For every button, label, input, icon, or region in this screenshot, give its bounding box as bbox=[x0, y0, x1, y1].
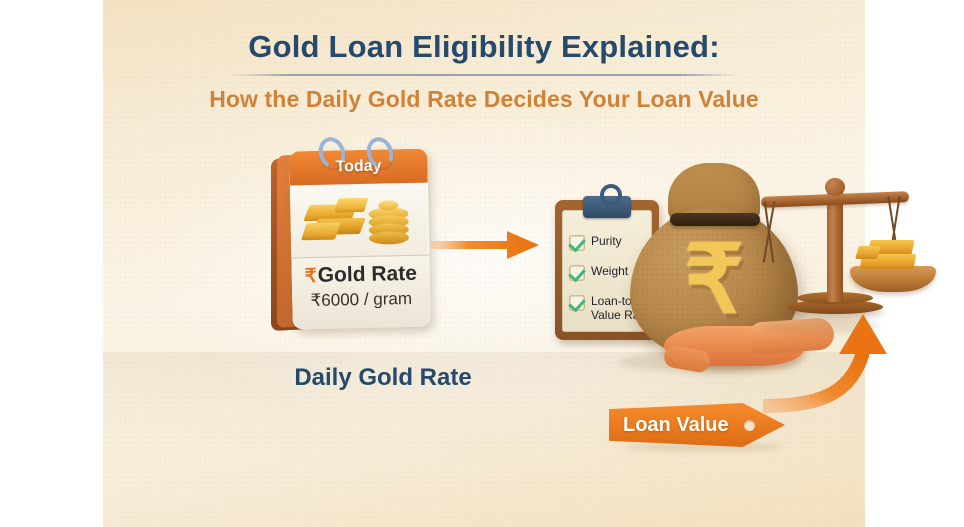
checkbox-checked-icon[interactable] bbox=[569, 295, 585, 311]
gold-bars-icon bbox=[290, 183, 429, 258]
checklist-item-label: Purity bbox=[591, 234, 622, 248]
gold-ingot bbox=[855, 246, 881, 259]
calendar-rate-block: ₹Gold Rate ₹6000 / gram bbox=[291, 255, 430, 330]
calendar-ring-right bbox=[367, 137, 385, 163]
checklist-item-purity[interactable]: Purity bbox=[569, 234, 622, 251]
daily-gold-rate-caption: Daily Gold Rate bbox=[253, 364, 513, 392]
title-divider bbox=[229, 74, 739, 76]
gold-rate-value: ₹6000 bbox=[310, 290, 359, 310]
scale-knob bbox=[825, 178, 845, 196]
page-title: Gold Loan Eligibility Explained: bbox=[103, 30, 865, 65]
calendar-banner: Today bbox=[289, 149, 428, 186]
rupee-icon: ₹ bbox=[304, 266, 317, 287]
checkbox-checked-icon[interactable] bbox=[569, 265, 585, 281]
gold-rate-unit: / gram bbox=[364, 289, 413, 309]
gold-rate-value-line: ₹6000 / gram bbox=[292, 289, 430, 312]
straight-right-arrow-icon bbox=[431, 228, 541, 262]
checklist-item-label: Weight bbox=[591, 264, 628, 278]
loan-value-tag-hole bbox=[744, 420, 755, 431]
loan-value-tag-label: Loan Value bbox=[623, 403, 729, 447]
infographic-canvas: Gold Loan Eligibility Explained: How the… bbox=[0, 0, 964, 527]
daily-rate-calendar: Today ₹Gold Rate bbox=[279, 150, 429, 335]
checklist-item-weight[interactable]: Weight bbox=[569, 264, 628, 281]
header-block: Gold Loan Eligibility Explained: How the… bbox=[103, 30, 865, 113]
scale-pan-right bbox=[850, 266, 936, 292]
loan-value-tag[interactable]: Loan Value bbox=[609, 403, 785, 447]
gold-rate-title: Gold Rate bbox=[317, 262, 417, 287]
curved-up-arrow-icon bbox=[763, 300, 923, 430]
checkbox-checked-icon[interactable] bbox=[569, 235, 585, 251]
gold-rate-title-line: ₹Gold Rate bbox=[292, 262, 430, 289]
money-bag-tie bbox=[670, 213, 760, 226]
calendar-front-card: Today ₹Gold Rate bbox=[289, 149, 431, 330]
calendar-ring-left bbox=[319, 137, 337, 163]
page-subtitle: How the Daily Gold Rate Decides Your Loa… bbox=[103, 86, 865, 113]
scale-post bbox=[827, 190, 843, 302]
parchment-panel: Gold Loan Eligibility Explained: How the… bbox=[103, 0, 865, 527]
